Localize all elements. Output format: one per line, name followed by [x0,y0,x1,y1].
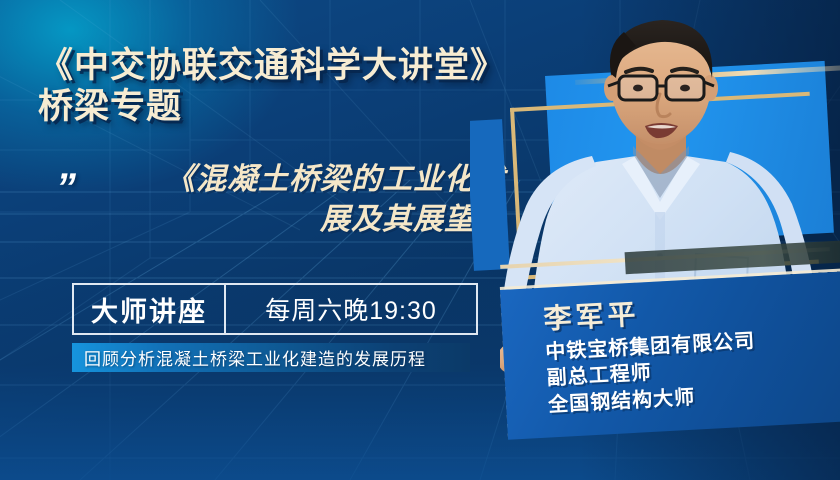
lecture-time: 每周六晚19:30 [226,285,476,333]
quote-open-icon: ” [56,168,73,208]
lecture-topic-text: 《混凝土桥梁的工业化发 展及其展望》 [86,160,506,239]
lecture-label: 大师讲座 [74,285,226,333]
headline-line-1: 《中交协联交通科学大讲堂》 [38,46,506,85]
lecture-schedule-box: 大师讲座 每周六晚19:30 [72,283,478,335]
quote-line-2: 展及其展望》 [86,200,506,240]
speaker-info-panel: 李军平 中铁宝桥集团有限公司 副总工程师 全国钢结构大师 [500,271,840,440]
quote-line-1: 《混凝土桥梁的工业化发 [86,160,506,200]
lecture-subtitle-text: 回顾分析混凝土桥梁工业化建造的发展历程 [72,345,426,370]
speaker-stage: 李军平 中铁宝桥集团有限公司 副总工程师 全国钢结构大师 [470,0,840,480]
lecture-subtitle-bar: 回顾分析混凝土桥梁工业化建造的发展历程 [72,343,470,372]
lecture-poster: 《中交协联交通科学大讲堂》 桥梁专题 ” 《混凝土桥梁的工业化发 展及其展望》 … [0,0,840,480]
